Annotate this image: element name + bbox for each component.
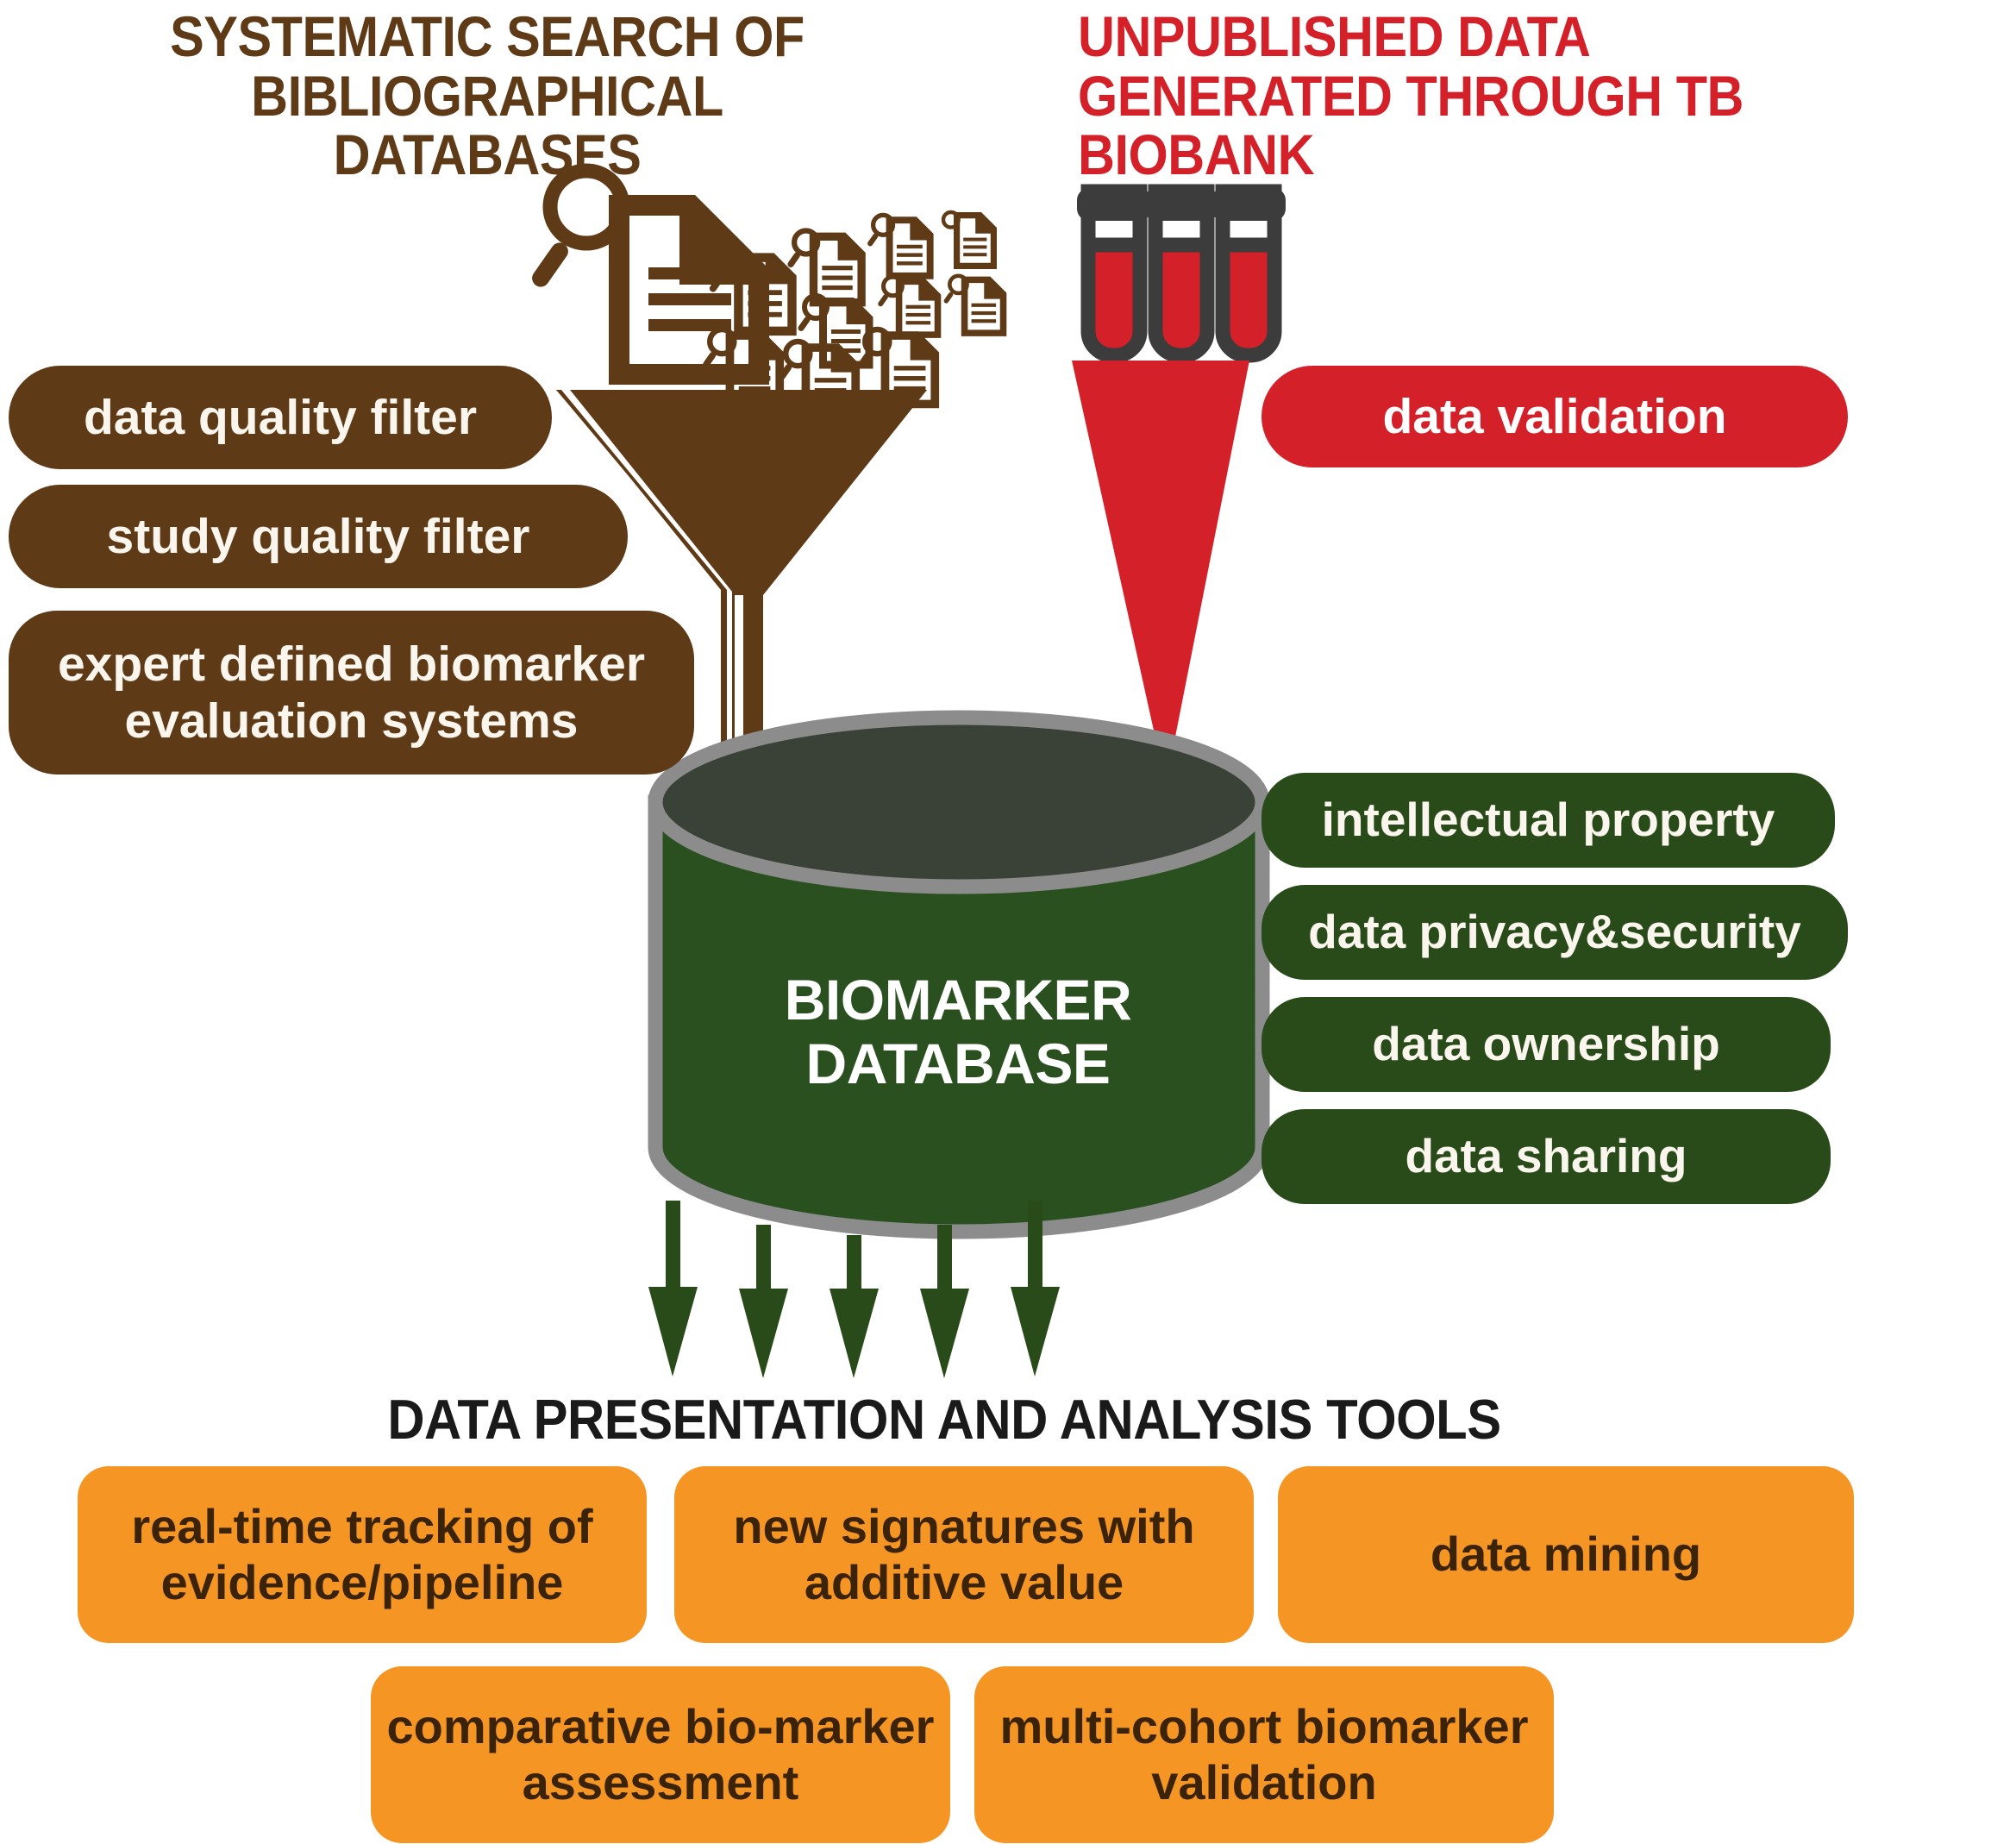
output-arrow (830, 1235, 879, 1378)
tool-pill-comparative-biomarker-assessment[interactable]: comparative bio-marker assessment (371, 1666, 950, 1843)
filter-pill-expert-defined-biomarker-evaluation-systems[interactable]: expert defined biomarker evaluation syst… (9, 611, 694, 775)
left-branch-heading: SYSTEMATIC SEARCH OF BIBLIOGRAPHICAL DAT… (96, 7, 880, 185)
tool-pill-new-signatures[interactable]: new signatures with additive value (674, 1466, 1254, 1643)
filter-pill-study-quality-filter[interactable]: study quality filter (9, 485, 628, 588)
output-arrow (739, 1225, 788, 1378)
test-tubes-icon (1077, 188, 1286, 355)
database-label-line1: BIOMARKER (648, 969, 1268, 1032)
tool-pill-multi-cohort-biomarker-validation[interactable]: multi-cohort biomarker validation (974, 1666, 1554, 1843)
database-label-line2: DATABASE (648, 1032, 1268, 1096)
tools-section-heading: DATA PRESENTATION AND ANALYSIS TOOLS (76, 1390, 1813, 1449)
database-label: BIOMARKER DATABASE (648, 969, 1268, 1096)
governance-pill-intellectual-property[interactable]: intellectual property (1262, 773, 1835, 868)
tool-pill-data-mining[interactable]: data mining (1278, 1466, 1854, 1643)
filter-pill-data-validation[interactable]: data validation (1262, 366, 1848, 467)
document-search-icon (529, 171, 769, 385)
documents-cluster-icon (702, 212, 1007, 420)
governance-pill-data-sharing[interactable]: data sharing (1262, 1109, 1831, 1204)
output-arrow (1011, 1201, 1060, 1377)
right-branch-heading: UNPUBLISHED DATA GENERATED THROUGH TB BI… (1078, 7, 1908, 185)
output-arrows (648, 1201, 1060, 1378)
governance-pill-data-ownership[interactable]: data ownership (1262, 997, 1831, 1092)
filter-pill-data-quality-filter[interactable]: data quality filter (9, 366, 552, 469)
red-funnel-icon (1072, 361, 1249, 785)
governance-pill-data-privacy-security[interactable]: data privacy&security (1262, 885, 1848, 980)
tool-pill-real-time-tracking[interactable]: real-time tracking of evidence/pipeline (78, 1466, 647, 1643)
diagram-canvas: SYSTEMATIC SEARCH OF BIBLIOGRAPHICAL DAT… (0, 0, 2016, 1844)
output-arrow (920, 1225, 969, 1378)
output-arrow (648, 1201, 698, 1377)
